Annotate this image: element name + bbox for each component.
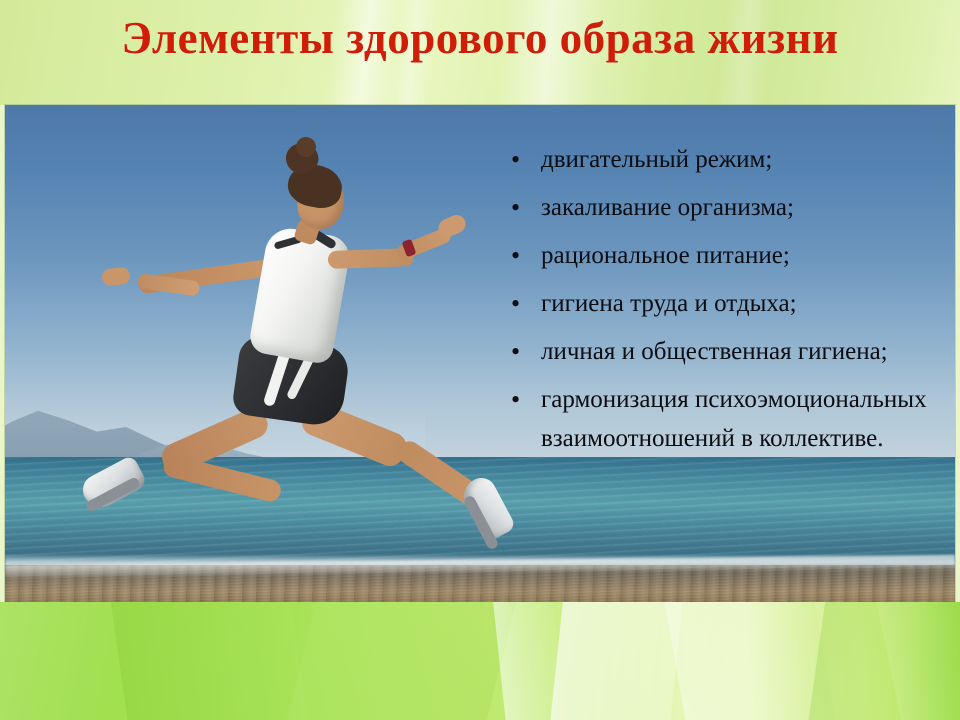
running-woman-figure [60,135,500,595]
slide-footer-panel [0,602,960,720]
list-item-label: двигательный режим; [541,140,935,179]
list-item: • рациональное питание; [505,236,935,275]
white-tank-top [248,225,353,366]
list-item-label: гармонизация психоэмоциональных взаимоот… [541,380,935,458]
decorative-shard [279,602,521,720]
list-item-label: закаливание организма; [541,188,935,227]
decorative-shard [547,602,685,720]
decorative-shard [108,602,312,720]
list-item: • личная и общественная гигиена; [505,332,935,371]
page-title: Элементы здорового образа жизни [0,8,960,68]
list-item: • двигательный режим; [505,140,935,179]
bullet-icon: • [505,380,541,419]
bullet-icon: • [505,188,541,227]
list-item: • гармонизация психоэмоциональных взаимо… [505,380,935,458]
bullet-list: • двигательный режим; • закаливание орга… [505,140,935,467]
list-item-label: личная и общественная гигиена; [541,332,935,371]
back-shin [161,453,283,503]
bullet-icon: • [505,284,541,323]
list-item-label: рациональное питание; [541,236,935,275]
bullet-icon: • [505,332,541,371]
list-item: • закаливание организма; [505,188,935,227]
bullet-icon: • [505,236,541,275]
back-hand [101,267,131,287]
bullet-icon: • [505,140,541,179]
list-item-label: гигиена труда и отдыха; [541,284,935,323]
presentation-slide: Элементы здорового образа жизни [0,0,960,720]
list-item: • гигиена труда и отдыха; [505,284,935,323]
